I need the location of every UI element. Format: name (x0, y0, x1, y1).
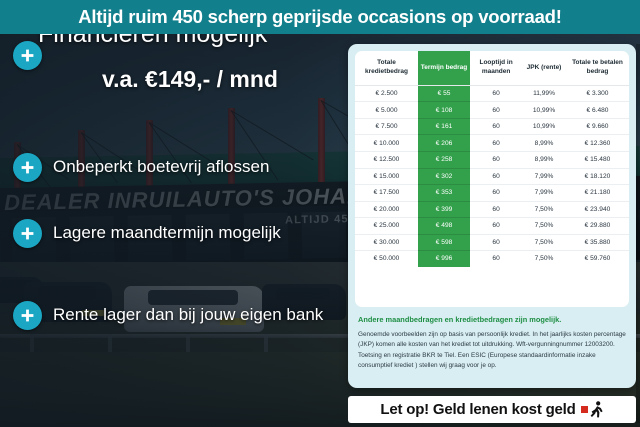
cell-total-credit: € 12.500 (355, 151, 418, 168)
cell-apr: 7,50% (522, 201, 566, 218)
cell-total-credit: € 10.000 (355, 135, 418, 152)
disclaimer-title: Andere maandbedragen en kredietbedragen … (358, 316, 626, 325)
column-header-term: Looptijd in maanden (470, 51, 522, 85)
cell-apr: 7,50% (522, 251, 566, 267)
cell-monthly-amount: € 498 (418, 218, 470, 235)
cell-total-credit: € 2.500 (355, 85, 418, 102)
walking-person-icon (581, 401, 604, 418)
cell-term-months: 60 (470, 251, 522, 267)
cell-term-months: 60 (470, 135, 522, 152)
cell-total-payable: € 9.660 (566, 118, 629, 135)
column-header-total-payable: Totale te betalen bedrag (566, 51, 629, 85)
table-row: € 5.000€ 1086010,99%€ 6.480 (355, 102, 629, 119)
cell-total-credit: € 17.500 (355, 185, 418, 202)
cell-total-payable: € 6.480 (566, 102, 629, 119)
cell-total-payable: € 29.880 (566, 218, 629, 235)
cell-monthly-amount: € 108 (418, 102, 470, 119)
benefit-label: Rente lager dan bij jouw eigen bank (53, 306, 323, 325)
cell-apr: 11,99% (522, 85, 566, 102)
cell-term-months: 60 (470, 218, 522, 235)
plus-circle-icon (13, 219, 42, 248)
cell-total-payable: € 3.300 (566, 85, 629, 102)
column-header-total-credit: Totale kredietbedrag (355, 51, 418, 85)
disclaimer-body: Genoemde voorbeelden zijn op basis van p… (358, 330, 626, 372)
cell-monthly-amount: € 353 (418, 185, 470, 202)
promo-content: Financieren mogelijk v.a. €149,- / mnd O… (0, 0, 345, 393)
table-row: € 2.500€ 556011,99%€ 3.300 (355, 85, 629, 102)
cell-total-payable: € 59.760 (566, 251, 629, 267)
price-subtitle: v.a. €149,- / mnd (40, 67, 340, 93)
table-row: € 7.500€ 1616010,99%€ 9.660 (355, 118, 629, 135)
cell-term-months: 60 (470, 85, 522, 102)
column-header-apr: JPK (rente) (522, 51, 566, 85)
table-row: € 17.500€ 353607,99%€ 21.180 (355, 185, 629, 202)
benefit-item-1: Onbeperkt boetevrij aflossen (0, 152, 345, 182)
cell-apr: 7,99% (522, 185, 566, 202)
table-row: € 10.000€ 206608,99%€ 12.360 (355, 135, 629, 152)
cell-term-months: 60 (470, 234, 522, 251)
finance-table: Totale kredietbedrag Termijn bedrag Loop… (355, 51, 629, 267)
cell-term-months: 60 (470, 201, 522, 218)
cell-term-months: 60 (470, 102, 522, 119)
benefit-item-2: Lagere maandtermijn mogelijk (0, 218, 345, 248)
cell-total-payable: € 21.180 (566, 185, 629, 202)
benefit-label: Onbeperkt boetevrij aflossen (53, 158, 269, 177)
cell-total-payable: € 18.120 (566, 168, 629, 185)
finance-table-container: Totale kredietbedrag Termijn bedrag Loop… (355, 51, 629, 307)
cell-monthly-amount: € 302 (418, 168, 470, 185)
cell-total-credit: € 50.000 (355, 251, 418, 267)
cell-apr: 8,99% (522, 151, 566, 168)
cell-total-credit: € 15.000 (355, 168, 418, 185)
warning-block (581, 406, 588, 413)
cell-monthly-amount: € 55 (418, 85, 470, 102)
table-row: € 50.000€ 996607,50%€ 59.760 (355, 251, 629, 267)
cell-monthly-amount: € 996 (418, 251, 470, 267)
cell-apr: 8,99% (522, 135, 566, 152)
table-row: € 25.000€ 498607,50%€ 29.880 (355, 218, 629, 235)
cell-term-months: 60 (470, 185, 522, 202)
banner-text: Altijd ruim 450 scherp geprijsde occasio… (78, 6, 562, 28)
cell-apr: 7,99% (522, 168, 566, 185)
cell-term-months: 60 (470, 118, 522, 135)
cell-term-months: 60 (470, 151, 522, 168)
cell-apr: 7,50% (522, 234, 566, 251)
promo-banner: Altijd ruim 450 scherp geprijsde occasio… (0, 0, 640, 34)
cell-total-credit: € 30.000 (355, 234, 418, 251)
plus-circle-icon (13, 301, 42, 330)
cell-apr: 10,99% (522, 118, 566, 135)
cell-total-payable: € 35.880 (566, 234, 629, 251)
cell-monthly-amount: € 161 (418, 118, 470, 135)
cell-total-credit: € 20.000 (355, 201, 418, 218)
table-row: € 15.000€ 302607,99%€ 18.120 (355, 168, 629, 185)
cell-term-months: 60 (470, 168, 522, 185)
table-header-row: Totale kredietbedrag Termijn bedrag Loop… (355, 51, 629, 85)
cell-total-credit: € 5.000 (355, 102, 418, 119)
finance-card: Totale kredietbedrag Termijn bedrag Loop… (348, 44, 636, 388)
cell-total-payable: € 12.360 (566, 135, 629, 152)
cell-total-payable: € 23.940 (566, 201, 629, 218)
cell-monthly-amount: € 399 (418, 201, 470, 218)
cell-monthly-amount: € 598 (418, 234, 470, 251)
loan-warning-bar: Let op! Geld lenen kost geld (348, 396, 636, 423)
loan-warning-text: Let op! Geld lenen kost geld (380, 401, 575, 418)
finance-table-body: € 2.500€ 556011,99%€ 3.300€ 5.000€ 10860… (355, 85, 629, 266)
cell-apr: 7,50% (522, 218, 566, 235)
cell-total-credit: € 7.500 (355, 118, 418, 135)
benefit-label: Lagere maandtermijn mogelijk (53, 224, 281, 243)
table-row: € 20.000€ 399607,50%€ 23.940 (355, 201, 629, 218)
table-row: € 12.500€ 258608,99%€ 15.480 (355, 151, 629, 168)
cell-monthly-amount: € 258 (418, 151, 470, 168)
cell-apr: 10,99% (522, 102, 566, 119)
cell-monthly-amount: € 206 (418, 135, 470, 152)
benefit-item-3: Rente lager dan bij jouw eigen bank (0, 300, 345, 330)
column-header-monthly: Termijn bedrag (418, 51, 470, 85)
plus-circle-icon (13, 153, 42, 182)
cell-total-payable: € 15.480 (566, 151, 629, 168)
cell-total-credit: € 25.000 (355, 218, 418, 235)
table-row: € 30.000€ 598607,50%€ 35.880 (355, 234, 629, 251)
card-edge-shadow (636, 44, 640, 423)
